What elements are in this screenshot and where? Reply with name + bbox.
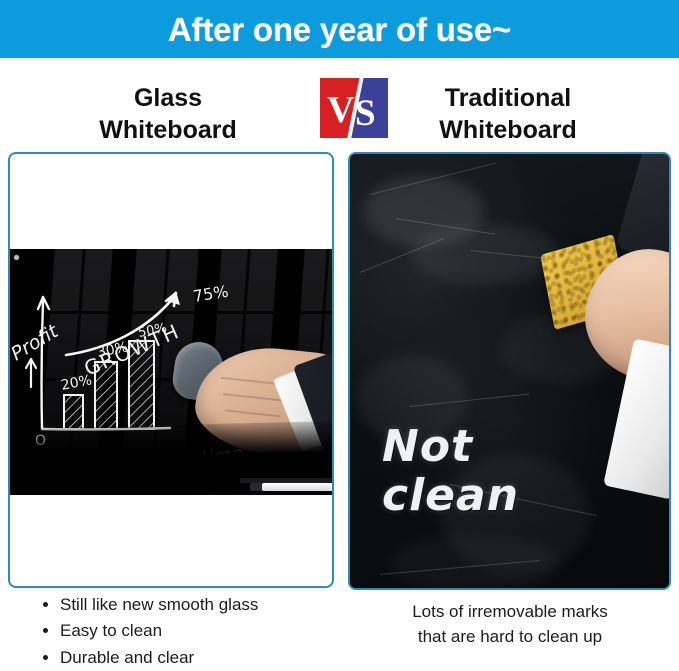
left-title-line-2: Whiteboard <box>18 114 318 146</box>
right-title-line-1: Traditional <box>358 82 658 114</box>
left-title-line-1: Glass <box>18 82 318 114</box>
board-text-line-2: clean <box>382 471 612 520</box>
right-caption: Lots of irremovable marks that are hard … <box>348 600 672 649</box>
list-item: Durable and clear <box>60 645 330 671</box>
glass-whiteboard-photo: Profit GROWTH 20% 30% 50% 75% 1 O time <box>10 249 334 495</box>
list-item: Still like new smooth glass <box>60 592 330 618</box>
traditional-whiteboard-photo: Not clean <box>350 154 669 588</box>
not-clean-board-text: Not clean <box>382 422 612 521</box>
board-text-line-1: Not <box>382 422 612 471</box>
right-title-line-2: Whiteboard <box>358 114 658 146</box>
chart-ylabel: Profit <box>10 320 63 366</box>
right-caption-line-2: that are hard to clean up <box>348 625 672 650</box>
right-caption-line-1: Lots of irremovable marks <box>348 600 672 625</box>
bar-label-20: 20% <box>60 372 94 394</box>
peak-label-75: 75% <box>192 282 230 306</box>
vs-letter-v: V <box>327 91 354 129</box>
list-item: Easy to clean <box>60 618 330 644</box>
up-arrow-annotation <box>26 359 36 387</box>
whiteboard-marker <box>262 483 334 491</box>
right-panel-traditional-whiteboard: Not clean <box>348 152 671 590</box>
left-benefits-list: Still like new smooth glass Easy to clea… <box>40 592 330 671</box>
comparison-titles-row: Glass Whiteboard V S Traditional Whitebo… <box>0 60 679 150</box>
left-column-title: Glass Whiteboard <box>18 82 318 146</box>
right-column-title: Traditional Whiteboard <box>358 82 658 146</box>
left-panel-glass-whiteboard: Profit GROWTH 20% 30% 50% 75% 1 O time <box>8 152 334 588</box>
header-banner: After one year of use~ <box>0 0 679 58</box>
page-title: After one year of use~ <box>168 13 511 46</box>
